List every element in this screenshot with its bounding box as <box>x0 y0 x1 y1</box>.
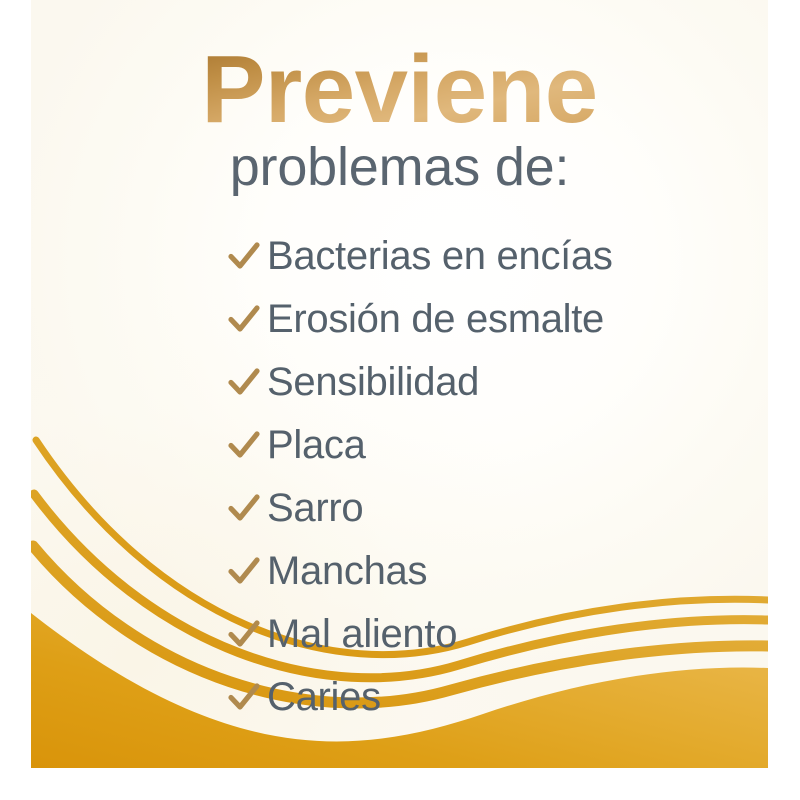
list-item: Caries <box>227 665 747 728</box>
list-item: Sensibilidad <box>227 350 747 413</box>
list-item: Mal aliento <box>227 602 747 665</box>
poster-canvas: Previene problemas de: Bacterias en encí… <box>0 0 800 800</box>
list-item-label: Sarro <box>267 488 363 528</box>
list-item: Erosión de esmalte <box>227 287 747 350</box>
check-mark-icon <box>227 429 261 461</box>
check-mark-icon <box>227 555 261 587</box>
list-item: Placa <box>227 413 747 476</box>
list-item-label: Erosión de esmalte <box>267 299 604 339</box>
benefit-list: Bacterias en encías Erosión de esmalte S… <box>227 224 747 728</box>
product-panel: Previene problemas de: Bacterias en encí… <box>31 0 768 768</box>
check-mark-icon <box>227 492 261 524</box>
list-item-label: Caries <box>267 677 381 717</box>
check-mark-icon <box>227 240 261 272</box>
check-mark-icon <box>227 681 261 713</box>
list-item-label: Placa <box>267 425 366 465</box>
check-mark-icon <box>227 303 261 335</box>
list-item: Manchas <box>227 539 747 602</box>
check-mark-icon <box>227 366 261 398</box>
list-item-label: Mal aliento <box>267 614 457 654</box>
list-item: Bacterias en encías <box>227 224 747 287</box>
check-mark-icon <box>227 618 261 650</box>
list-item-label: Manchas <box>267 551 427 591</box>
list-item-label: Bacterias en encías <box>267 236 613 276</box>
list-item-label: Sensibilidad <box>267 362 479 402</box>
list-item: Sarro <box>227 476 747 539</box>
page-subtitle: problemas de: <box>31 140 768 194</box>
page-title: Previene <box>31 42 768 138</box>
